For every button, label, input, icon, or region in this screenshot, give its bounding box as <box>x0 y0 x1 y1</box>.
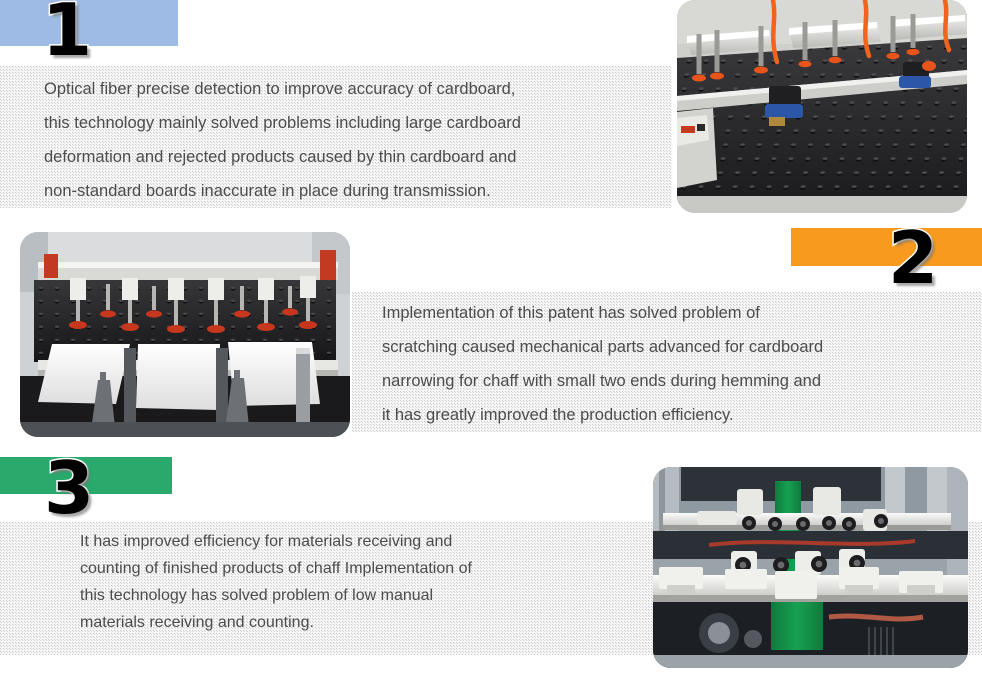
section-three-line-4: materials receiving and counting. <box>80 614 640 632</box>
section-three-line-2: counting of finished products of chaff I… <box>80 560 640 578</box>
section-three-line-3: this technology has solved problem of lo… <box>80 587 640 605</box>
section-three-photo <box>653 467 968 668</box>
section-two-photo <box>20 232 350 437</box>
section-one-line-1: Optical fiber precise detection to impro… <box>44 80 674 99</box>
badge-two-number: 2 <box>888 222 937 294</box>
section-three-copy: It has improved efficiency for materials… <box>80 533 640 632</box>
section-two-copy: Implementation of this patent has solved… <box>382 304 972 425</box>
section-two-line-3: narrowing for chaff with small two ends … <box>382 372 972 391</box>
section-two-line-1: Implementation of this patent has solved… <box>382 304 972 323</box>
section-one-line-2: this technology mainly solved problems i… <box>44 114 674 133</box>
section-two-line-2: scratching caused mechanical parts advan… <box>382 338 972 357</box>
section-one-photo <box>677 0 967 213</box>
section-one-copy: Optical fiber precise detection to impro… <box>44 80 674 201</box>
badge-one-number: 1 <box>42 0 91 66</box>
section-one-line-3: deformation and rejected products caused… <box>44 148 674 167</box>
section-one-line-4: non-standard boards inaccurate in place … <box>44 182 674 201</box>
badge-three-number: 3 <box>44 452 93 524</box>
badge-two <box>791 228 982 266</box>
section-three-line-1: It has improved efficiency for materials… <box>80 533 640 551</box>
section-two-line-4: it has greatly improved the production e… <box>382 406 972 425</box>
